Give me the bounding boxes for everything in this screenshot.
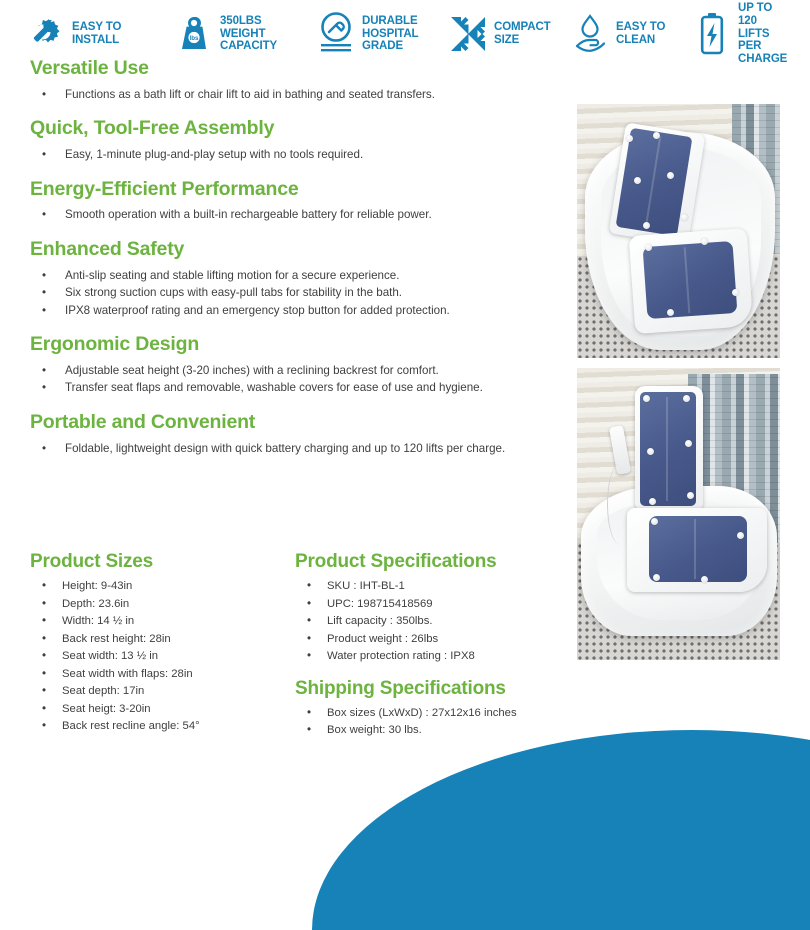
section-portable-and-convenient: Portable and Convenient Foldable, lightw… — [30, 412, 530, 457]
list-item: Six strong suction cups with easy-pull t… — [30, 285, 530, 301]
bullet-list: Functions as a bath lift or chair lift t… — [30, 87, 530, 103]
bottom-blue-swoosh-decoration — [312, 730, 810, 930]
product-specifications-column: Product Specifications SKU : IHT-BL-1 UP… — [295, 551, 560, 740]
list-item: SKU : IHT-BL-1 — [295, 578, 560, 594]
photo-stud — [667, 172, 674, 179]
feature-weight-capacity: lbs 350lbs WEIGHT CAPACITY — [174, 11, 302, 57]
section-quick-tool-free-assembly: Quick, Tool-Free Assembly Easy, 1-minute… — [30, 118, 530, 163]
list-item: Box weight: 30 lbs. — [295, 722, 560, 738]
photo-stud — [645, 244, 652, 251]
water-drop-hand-icon — [570, 11, 610, 57]
bullet-list: Foldable, lightweight design with quick … — [30, 441, 530, 457]
photo-stud — [634, 177, 641, 184]
hospital-grade-icon — [316, 11, 356, 57]
section-heading: Portable and Convenient — [30, 412, 530, 434]
feature-label: COMPACT SIZE — [494, 21, 551, 47]
list-item: Anti-slip seating and stable lifting mot… — [30, 268, 530, 284]
photo-stud — [701, 576, 708, 583]
list-item: Functions as a bath lift or chair lift t… — [30, 87, 530, 103]
product-specifications-list: SKU : IHT-BL-1 UPC: 198715418569 Lift ca… — [295, 578, 560, 664]
photo-handset-cord — [607, 464, 632, 544]
features-content: Versatile Use Functions as a bath lift o… — [30, 58, 530, 472]
feature-label: EASY TO CLEAN — [616, 21, 665, 47]
photo-seat-cushion — [643, 241, 738, 319]
list-item: Adjustable seat height (3-20 inches) wit… — [30, 363, 530, 379]
photo-stud — [732, 289, 739, 296]
list-item: Lift capacity : 350lbs. — [295, 613, 560, 629]
feature-compact-size: COMPACT SIZE — [448, 11, 556, 57]
section-heading: Ergonomic Design — [30, 334, 530, 356]
photo-stud — [685, 440, 692, 447]
list-item: Product weight : 26lbs — [295, 631, 560, 647]
list-item: Seat depth: 17in — [30, 683, 295, 699]
list-item: Height: 9-43in — [30, 578, 295, 594]
product-sizes-column: Product Sizes Height: 9-43in Depth: 23.6… — [30, 551, 295, 736]
feature-label: 350lbs WEIGHT CAPACITY — [220, 15, 302, 54]
bath-lift-lowered-photo — [577, 104, 780, 358]
section-heading: Shipping Specifications — [295, 678, 560, 699]
list-item: Seat width: 13 ½ in — [30, 648, 295, 664]
photo-stud — [653, 574, 660, 581]
section-heading: Enhanced Safety — [30, 239, 530, 261]
section-heading: Versatile Use — [30, 58, 530, 80]
svg-text:lbs: lbs — [190, 35, 199, 42]
feature-easy-to-install: EASY TO INSTALL — [26, 11, 160, 57]
feature-durable-hospital-grade: DURABLE HOSPITAL GRADE — [316, 11, 434, 57]
section-heading: Product Sizes — [30, 551, 295, 572]
section-heading: Energy-Efficient Performance — [30, 179, 530, 201]
feature-label: UP TO 120 LIFTS PER CHARGE — [738, 2, 792, 66]
photo-stud — [643, 395, 650, 402]
bullet-list: Easy, 1-minute plug-and-play setup with … — [30, 147, 530, 163]
photo-stud — [681, 214, 688, 221]
photo-stud — [687, 492, 694, 499]
photo-stud — [701, 238, 708, 245]
bath-lift-raised-photo — [577, 368, 780, 660]
photo-stud — [667, 309, 674, 316]
list-item: Back rest height: 28in — [30, 631, 295, 647]
feature-label: DURABLE HOSPITAL GRADE — [362, 15, 419, 54]
compact-arrows-icon — [448, 11, 488, 57]
photo-stud — [651, 518, 658, 525]
photo-stud — [653, 132, 660, 139]
section-enhanced-safety: Enhanced Safety Anti-slip seating and st… — [30, 239, 530, 319]
bullet-list: Adjustable seat height (3-20 inches) wit… — [30, 363, 530, 397]
gear-wrench-icon — [26, 11, 66, 57]
list-item: Seat width with flaps: 28in — [30, 666, 295, 682]
list-item: Foldable, lightweight design with quick … — [30, 441, 530, 457]
feature-label: EASY TO INSTALL — [72, 21, 121, 47]
list-item: Easy, 1-minute plug-and-play setup with … — [30, 147, 530, 163]
photo-seat-cushion — [649, 516, 747, 582]
section-heading: Quick, Tool-Free Assembly — [30, 118, 530, 140]
product-sizes-list: Height: 9-43in Depth: 23.6in Width: 14 ½… — [30, 578, 295, 734]
spacer — [295, 666, 560, 678]
photo-stud — [683, 395, 690, 402]
section-energy-efficient-performance: Energy-Efficient Performance Smooth oper… — [30, 179, 530, 224]
battery-bolt-icon — [692, 11, 732, 57]
photo-stud — [649, 498, 656, 505]
photo-stud — [626, 135, 633, 142]
list-item: Box sizes (LxWxD) : 27x12x16 inches — [295, 705, 560, 721]
list-item: Width: 14 ½ in — [30, 613, 295, 629]
list-item: Water protection rating : IPX8 — [295, 648, 560, 664]
list-item: Back rest recline angle: 54° — [30, 718, 295, 734]
photo-stud — [737, 532, 744, 539]
section-versatile-use: Versatile Use Functions as a bath lift o… — [30, 58, 530, 103]
photo-stud — [643, 222, 650, 229]
feature-lifts-per-charge: UP TO 120 LIFTS PER CHARGE — [692, 2, 792, 66]
list-item: Smooth operation with a built-in recharg… — [30, 207, 530, 223]
weight-icon: lbs — [174, 11, 214, 57]
feature-easy-to-clean: EASY TO CLEAN — [570, 11, 678, 57]
list-item: UPC: 198715418569 — [295, 596, 560, 612]
photo-stud — [647, 448, 654, 455]
specifications-area: Product Sizes Height: 9-43in Depth: 23.6… — [30, 551, 560, 740]
bullet-list: Anti-slip seating and stable lifting mot… — [30, 268, 530, 319]
list-item: Depth: 23.6in — [30, 596, 295, 612]
bullet-list: Smooth operation with a built-in recharg… — [30, 207, 530, 223]
shipping-specifications-list: Box sizes (LxWxD) : 27x12x16 inches Box … — [295, 705, 560, 739]
list-item: Seat heigt: 3-20in — [30, 701, 295, 717]
section-heading: Product Specifications — [295, 551, 560, 572]
section-ergonomic-design: Ergonomic Design Adjustable seat height … — [30, 334, 530, 397]
list-item: IPX8 waterproof rating and an emergency … — [30, 303, 530, 319]
list-item: Transfer seat flaps and removable, washa… — [30, 380, 530, 396]
